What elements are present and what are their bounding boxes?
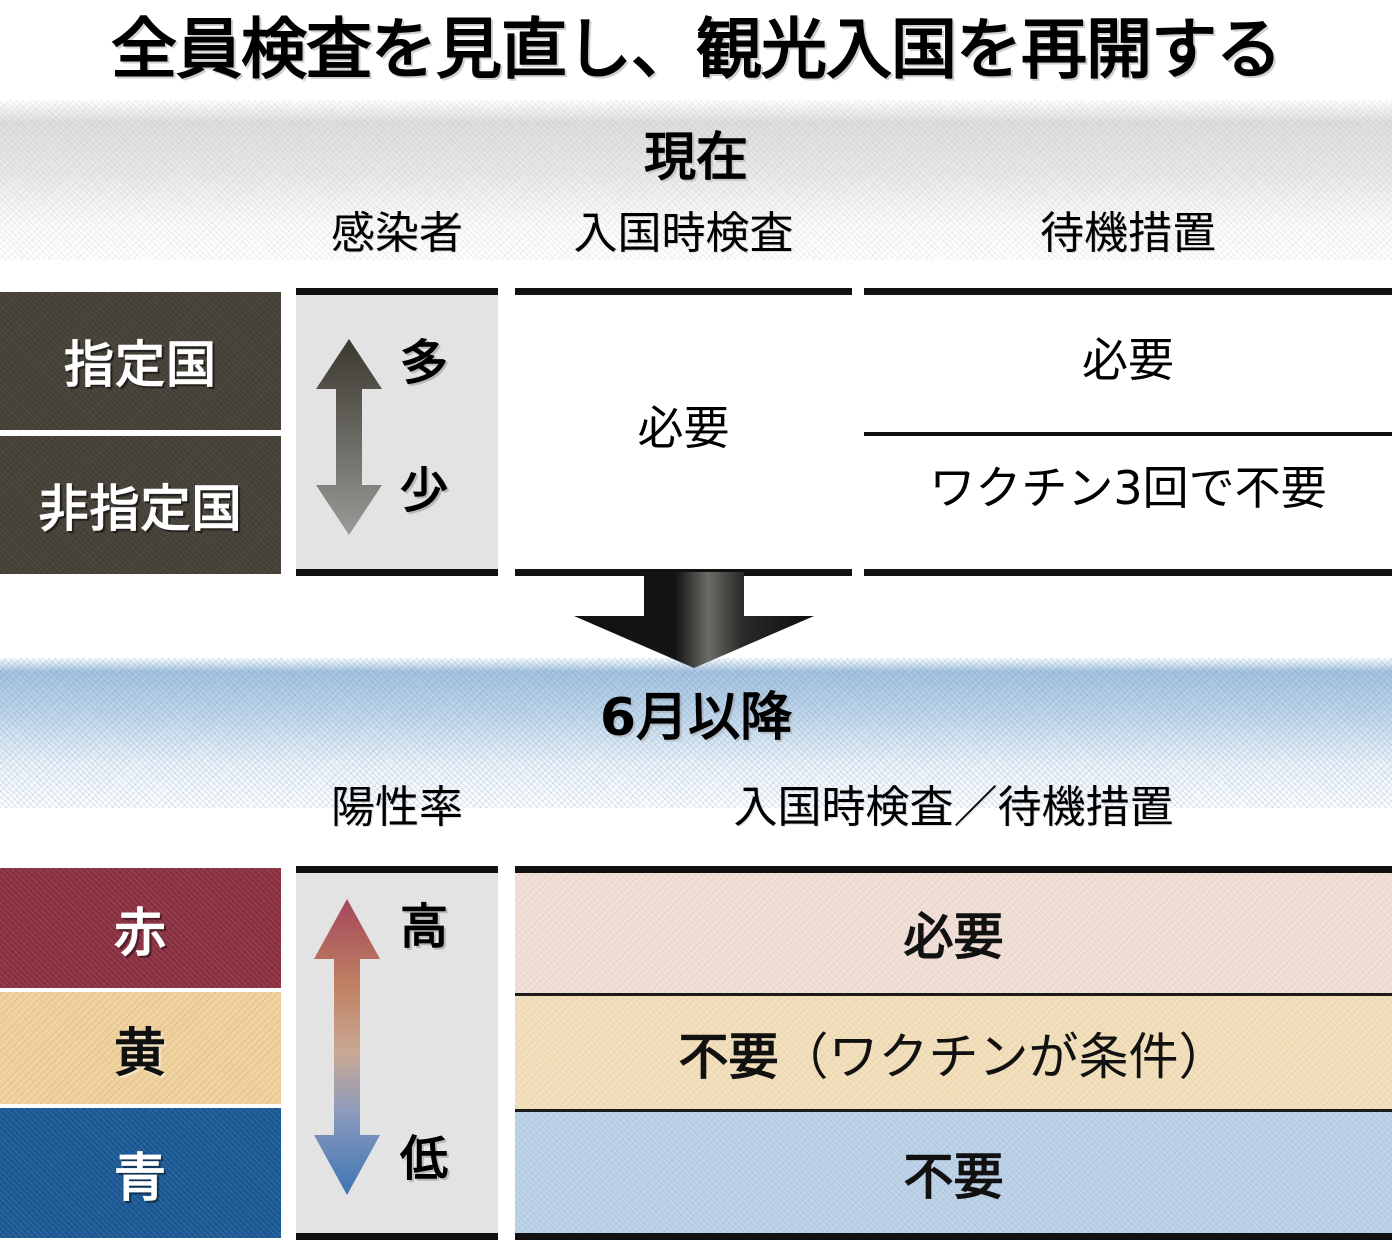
measure-row-red: 必要	[515, 873, 1392, 993]
positivity-arrow-low-label: 低	[400, 1135, 448, 1183]
color-chip-blue-label: 青	[114, 1136, 167, 1211]
country-box-designated-label: 指定国	[64, 325, 217, 397]
color-chip-red-label: 赤	[114, 891, 167, 966]
infographic-root: 全員検査を見直し、観光入国を再開する 現在 感染者 入国時検査 待機措置 指定国…	[0, 0, 1392, 1246]
column-header-entry-test: 入国時検査	[515, 212, 852, 256]
infected-arrow-panel: 多 少	[296, 288, 498, 576]
country-box-non-designated: 非指定国	[0, 436, 281, 574]
column-header-infected: 感染者	[296, 212, 498, 256]
measures-column: 必要 不要（ワクチンが条件） 不要	[515, 866, 1392, 1240]
country-box-designated: 指定国	[0, 292, 281, 430]
quarantine-divider	[864, 432, 1392, 436]
measure-row-blue: 不要	[515, 1112, 1392, 1233]
quarantine-value-required: 必要	[864, 337, 1392, 383]
positivity-arrow-high-label: 高	[400, 903, 448, 951]
title-bar: 全員検査を見直し、観光入国を再開する	[0, 0, 1392, 100]
measure-row-yellow-value: 不要	[679, 1017, 779, 1089]
transition-down-arrow-icon	[566, 572, 822, 670]
double-arrow-up-down-icon	[310, 337, 388, 537]
measure-row-yellow: 不要（ワクチンが条件）	[515, 996, 1392, 1109]
quarantine-cell: 必要 ワクチン3回で不要	[864, 288, 1392, 576]
column-header-positivity-rate: 陽性率	[296, 786, 498, 830]
quarantine-value-vaccine: ワクチン3回で不要	[864, 465, 1392, 511]
column-header-quarantine: 待機措置	[864, 212, 1392, 256]
entry-test-cell: 必要	[515, 288, 852, 576]
measure-row-red-value: 必要	[904, 897, 1004, 969]
section-heading-june: 6月以降	[0, 692, 1392, 744]
page-title: 全員検査を見直し、観光入国を再開する	[111, 17, 1281, 83]
entry-test-value: 必要	[515, 405, 852, 451]
column-header-entry-test-quarantine: 入国時検査／待機措置	[515, 786, 1392, 830]
color-chip-blue: 青	[0, 1108, 281, 1238]
infected-arrow-high-label: 多	[400, 339, 448, 387]
color-chip-red: 赤	[0, 868, 281, 988]
color-chip-yellow-label: 黄	[114, 1011, 167, 1086]
color-chip-yellow: 黄	[0, 992, 281, 1104]
measure-row-yellow-note: （ワクチンが条件）	[779, 1017, 1229, 1089]
infected-arrow-low-label: 少	[400, 467, 448, 515]
positivity-arrow-panel: 高 低	[296, 866, 498, 1240]
section-heading-current: 現在	[0, 132, 1392, 184]
country-box-non-designated-label: 非指定国	[39, 469, 243, 541]
double-arrow-high-low-icon	[308, 897, 386, 1197]
measure-row-blue-value: 不要	[904, 1137, 1004, 1209]
